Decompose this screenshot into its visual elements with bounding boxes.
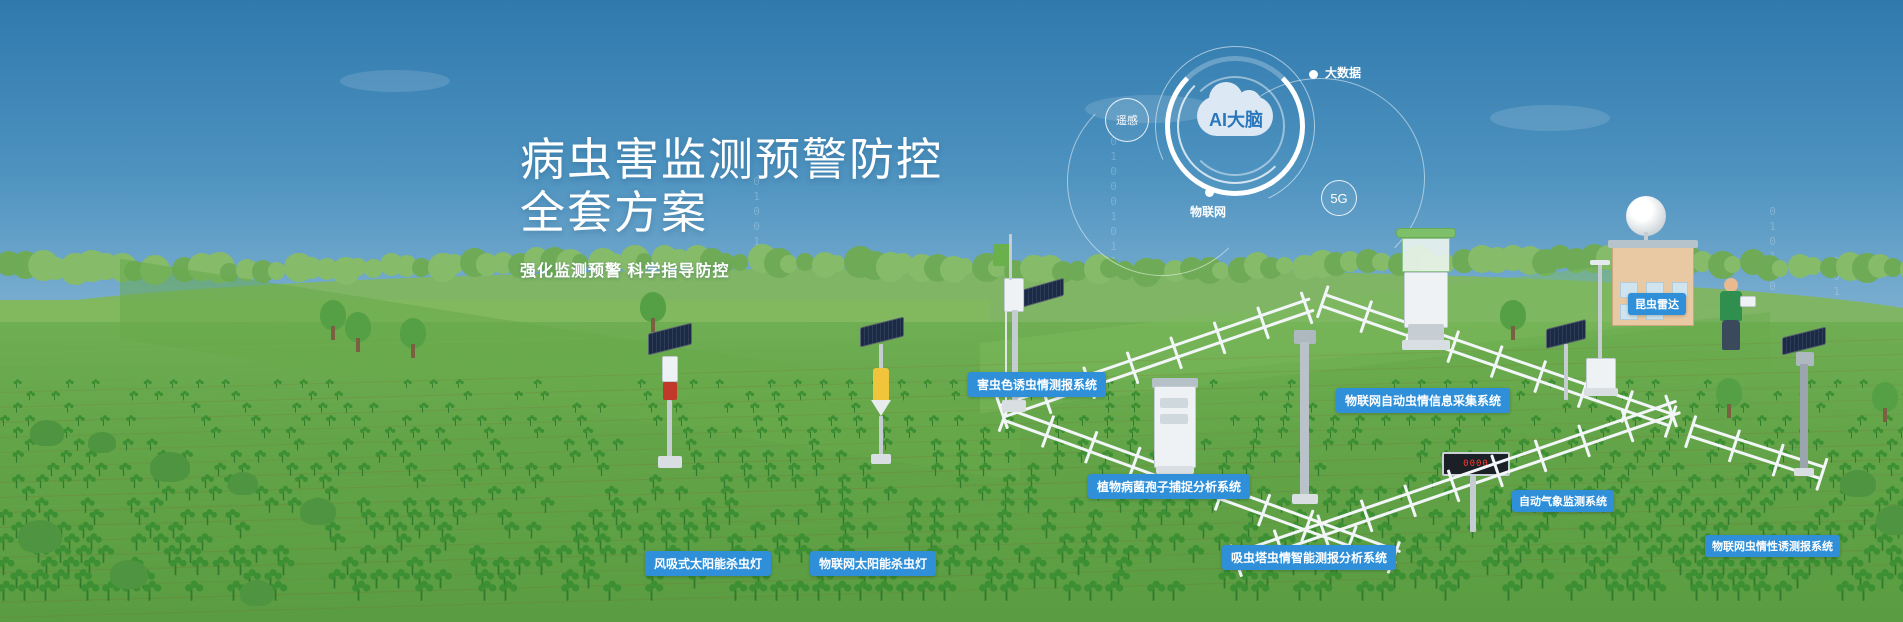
crop-plant: [242, 405, 248, 413]
crop-plant: [690, 381, 696, 388]
crop-plant: [643, 393, 649, 401]
crop-plant: [896, 584, 909, 600]
hero-title-block: 病虫害监测预警防控 全套方案 强化监测预警 科学指导防控: [520, 133, 943, 281]
roadside-bush: [228, 472, 258, 495]
collector-body: [1404, 272, 1448, 328]
page-title-line-2: 全套方案: [520, 186, 943, 239]
ai-brain-graphic: AI大脑 遥感 5G 大数据 物联网: [1085, 28, 1445, 228]
crop-plant: [309, 393, 315, 401]
crop-plant: [185, 584, 198, 600]
crop-plant: [1130, 417, 1137, 426]
tree-trunk: [1727, 404, 1731, 418]
crop-plant: [369, 405, 375, 413]
crop-plant: [1288, 381, 1294, 388]
crop-plant: [61, 453, 69, 463]
crop-plant: [222, 381, 228, 388]
crop-plant: [211, 429, 218, 438]
crop-plant: [1633, 536, 1644, 550]
crop-plant: [950, 381, 956, 388]
device-label-auto-weather-monitoring-system[interactable]: 自动气象监测系统: [1512, 490, 1614, 512]
crop-plant: [0, 512, 9, 525]
crop-plant: [1774, 429, 1781, 438]
crop-plant: [690, 453, 698, 463]
crop-plant: [1627, 584, 1640, 600]
device-label-iot-sex-lure-forecast-system[interactable]: 物联网虫情性诱测报系统: [1705, 535, 1840, 557]
crop-plant: [1000, 584, 1013, 600]
crop-plant: [812, 465, 821, 476]
crop-plant: [18, 584, 31, 600]
crop-plant: [1666, 441, 1674, 451]
crop-plant: [898, 381, 904, 388]
crop-plant: [599, 548, 610, 563]
crop-plant: [1672, 465, 1681, 476]
crop-plant: [956, 453, 964, 463]
crop-plant: [863, 500, 873, 513]
crop-plant: [1617, 477, 1626, 489]
crop-plant: [1793, 488, 1802, 500]
crop-plant: [1431, 417, 1438, 426]
crop-plant: [85, 453, 93, 463]
crop-plant: [310, 465, 319, 476]
crop-plant: [692, 465, 701, 476]
crop-plant: [1314, 465, 1323, 476]
device-base: [1002, 400, 1026, 412]
building-roof: [1608, 240, 1698, 248]
roadside-bush: [300, 498, 336, 525]
led-board-pole: [1470, 476, 1476, 532]
crop-plant: [155, 393, 161, 401]
crop-plant: [1283, 405, 1289, 413]
crop-plant: [477, 465, 486, 476]
tree: [320, 300, 346, 344]
roadside-bush: [1840, 470, 1876, 497]
crop-plant: [472, 453, 480, 463]
crop-plant: [556, 548, 567, 563]
crop-plant: [254, 453, 262, 463]
crop-plant: [59, 477, 68, 489]
tree-trunk: [411, 344, 415, 358]
crop-plant: [484, 429, 491, 438]
crop-plant: [414, 524, 425, 538]
cloud-icon: [1490, 105, 1610, 131]
crop-plant: [1156, 512, 1166, 525]
crop-plant: [1770, 488, 1779, 500]
crop-plant: [1104, 429, 1111, 438]
crop-plant: [1711, 477, 1720, 489]
device-base: [871, 454, 891, 464]
crop-plant: [1070, 500, 1080, 513]
crop-plant: [119, 465, 128, 476]
crop-plant: [1230, 584, 1243, 600]
crop-plant: [1652, 381, 1658, 388]
crop-plant: [979, 584, 992, 600]
crop-plant: [392, 572, 404, 588]
node-label-iot: 物联网: [1190, 203, 1226, 220]
crop-plant: [1501, 429, 1508, 438]
crop-plant: [1746, 512, 1756, 525]
crop-plant: [1668, 500, 1678, 513]
crop-plant: [540, 393, 546, 401]
tree: [400, 318, 426, 362]
crop-plant: [1144, 548, 1155, 563]
crop-plant: [1753, 584, 1766, 600]
crop-plant: [774, 548, 785, 563]
crop-plant: [1247, 453, 1255, 463]
crop-plant: [932, 453, 940, 463]
crop-plant: [232, 393, 238, 401]
device-label-wind-suction-solar-insect-lamp[interactable]: 风吸式太阳能杀虫灯: [645, 551, 771, 576]
tablet-icon: [1740, 296, 1756, 307]
worker-body: [1720, 291, 1742, 321]
crop-plant: [1028, 572, 1040, 588]
crop-plant: [1309, 405, 1315, 413]
crop-plant: [196, 381, 202, 388]
crop-plant: [924, 381, 930, 388]
crop-plant: [362, 512, 372, 525]
lamp-housing: [662, 356, 678, 382]
crop-plant: [1829, 500, 1839, 513]
badge-remote-sensing-label: 遥感: [1116, 112, 1138, 128]
crop-plant: [334, 465, 343, 476]
crop-plant: [1251, 584, 1264, 600]
crop-plant: [1253, 429, 1260, 438]
device-base: [1584, 388, 1618, 396]
crop-plant: [1691, 500, 1701, 513]
crop-plant: [279, 453, 287, 463]
crop-plant: [143, 584, 156, 600]
crop-plant: [534, 429, 541, 438]
device-pole: [1800, 364, 1808, 470]
crop-plant: [597, 465, 606, 476]
crop-plant: [147, 441, 155, 451]
crop-plant: [849, 393, 855, 401]
crop-plant: [1537, 548, 1548, 563]
crop-plant: [782, 429, 789, 438]
crop-plant: [1049, 572, 1061, 588]
crop-plant: [1626, 381, 1632, 388]
crop-plant: [1323, 500, 1333, 513]
crop-plant: [1278, 429, 1285, 438]
crop-plant: [225, 512, 235, 525]
crop-plant: [1293, 584, 1306, 600]
crop-plant: [1899, 584, 1903, 600]
crop-plant: [170, 381, 176, 388]
crop-plant: [1813, 441, 1821, 451]
crop-plant: [1502, 584, 1515, 600]
crop-plant: [1711, 584, 1724, 600]
crop-plant: [201, 477, 210, 489]
crop-plant: [1327, 429, 1334, 438]
crop-plant: [1834, 381, 1840, 388]
crop-plant: [430, 512, 440, 525]
crop-plant: [463, 393, 469, 401]
crop-plant: [445, 405, 451, 413]
crop-plant: [1737, 500, 1747, 513]
crop-plant: [793, 512, 803, 525]
crop-plant: [230, 453, 238, 463]
crop-plant: [1774, 584, 1787, 600]
tree-trunk: [1883, 408, 1887, 422]
crop-plant: [227, 584, 240, 600]
crop-plant: [954, 417, 961, 426]
hill-bush: [1772, 260, 1788, 276]
crop-plant: [977, 488, 986, 500]
crop-plant: [1481, 560, 1493, 575]
crop-plant: [820, 381, 826, 388]
crop-plant: [25, 417, 32, 426]
crop-plant: [1645, 500, 1655, 513]
roadside-bush: [110, 560, 148, 589]
crop-plant: [130, 477, 139, 489]
worker-head: [1724, 278, 1738, 292]
crop-plant: [351, 417, 358, 426]
cabinet-vent: [1160, 398, 1188, 408]
crop-plant: [214, 465, 223, 476]
node-label-bigdata: 大数据: [1325, 64, 1361, 81]
crop-plant: [1690, 584, 1703, 600]
crop-plant: [360, 548, 371, 563]
roadside-bush: [240, 580, 274, 606]
crop-plant: [549, 465, 558, 476]
crop-plant: [278, 488, 287, 500]
crop-plant: [1836, 584, 1849, 600]
crop-plant: [1377, 584, 1390, 600]
crop-plant: [1410, 572, 1422, 588]
crop-plant: [319, 477, 328, 489]
crop-plant: [407, 512, 417, 525]
crop-plant: [1355, 417, 1362, 426]
device-pole: [667, 400, 672, 458]
crop-plant: [1168, 584, 1181, 600]
crop-plant: [1104, 417, 1111, 426]
crop-plant: [541, 500, 551, 513]
roadside-bush: [150, 452, 190, 482]
crop-plant: [1372, 441, 1380, 451]
crop-plant: [360, 429, 367, 438]
tree: [1872, 382, 1898, 426]
crop-plant: [811, 453, 819, 463]
crop-plant: [1735, 477, 1744, 489]
crop-plant: [744, 477, 753, 489]
crop-plant: [1222, 453, 1230, 463]
crop-plant: [577, 417, 584, 426]
crop-plant: [12, 477, 21, 489]
crop-plant: [770, 584, 783, 600]
crop-plant: [1860, 381, 1866, 388]
crop-plant: [746, 393, 752, 401]
crop-plant: [938, 584, 951, 600]
crop-plant: [295, 477, 304, 489]
crop-plant: [274, 381, 280, 388]
crop-plant: [180, 393, 186, 401]
crop-plant: [1439, 584, 1452, 600]
crop-plant: [612, 441, 620, 451]
crop-plant: [1688, 477, 1697, 489]
crop-plant: [1648, 465, 1657, 476]
crop-plant: [862, 524, 873, 538]
crop-plant: [828, 417, 835, 426]
crop-plant: [851, 405, 857, 413]
crop-plant: [400, 453, 408, 463]
crop-plant: [478, 584, 491, 600]
crop-plant: [327, 453, 335, 463]
roadside-bush: [1876, 505, 1903, 535]
crop-plant: [1490, 524, 1501, 538]
device-label-suction-tower-forecast-system[interactable]: 吸虫塔虫情智能测报分析系统: [1222, 545, 1396, 570]
crop-plant: [504, 524, 515, 538]
badge-5g[interactable]: 5G: [1321, 180, 1357, 216]
crop-plant: [738, 453, 746, 463]
crop-plant: [375, 453, 383, 463]
tower-mast: [1300, 342, 1309, 498]
crop-plant: [1827, 453, 1835, 463]
crop-plant: [791, 477, 800, 489]
crop-plant: [1658, 453, 1666, 463]
crop-plant: [1774, 393, 1780, 401]
crop-plant: [52, 393, 58, 401]
crop-plant: [1131, 393, 1137, 401]
crop-plant: [767, 477, 776, 489]
crop-plant: [129, 393, 135, 401]
crop-plant: [1481, 417, 1488, 426]
crop-plant: [1188, 548, 1199, 563]
device-pole: [1009, 234, 1012, 280]
controller-box: [1004, 278, 1024, 312]
crop-plant: [856, 429, 863, 438]
crop-plant: [956, 477, 965, 489]
crop-plant: [12, 453, 20, 463]
crop-plant: [597, 405, 603, 413]
crop-plant: [251, 548, 262, 563]
device-label-iot-auto-pest-info-collection[interactable]: 物联网自动虫情信息采集系统: [1336, 388, 1510, 413]
crop-plant: [980, 429, 987, 438]
crop-plant: [1655, 512, 1665, 525]
crop-plant: [771, 393, 777, 401]
crop-plant: [750, 584, 763, 600]
crop-plant: [1825, 393, 1831, 401]
crop-plant: [1381, 417, 1388, 426]
crop-plant: [531, 477, 540, 489]
crop-plant: [714, 453, 722, 463]
crop-plant: [64, 405, 70, 413]
crop-plant: [83, 477, 92, 489]
crop-plant: [616, 524, 627, 538]
crop-plant: [1886, 441, 1894, 451]
crop-plant: [434, 572, 446, 588]
crop-plant: [605, 488, 614, 500]
crop-plant: [770, 512, 780, 525]
badge-5g-label: 5G: [1330, 191, 1347, 206]
crop-plant: [648, 405, 654, 413]
crop-plant: [502, 417, 509, 426]
crop-plant: [778, 417, 785, 426]
tree-trunk: [1511, 326, 1515, 340]
crop-plant: [425, 548, 436, 563]
crop-plant: [1559, 548, 1570, 563]
crop-plant: [326, 381, 332, 388]
crop-plant: [452, 417, 459, 426]
crop-plant: [561, 584, 574, 600]
crop-plant: [420, 405, 426, 413]
instrument-shelter: [1586, 358, 1616, 390]
crop-plant: [288, 500, 298, 513]
crop-plant: [970, 536, 981, 550]
crop-plant: [472, 500, 482, 513]
crop-plant: [343, 441, 351, 451]
crop-plant: [1434, 536, 1445, 550]
crop-plant: [203, 512, 213, 525]
crop-plant: [261, 429, 268, 438]
crop-plant: [1690, 405, 1696, 413]
crop-plant: [26, 393, 32, 401]
device-label-insect-radar[interactable]: 昆虫雷达: [1628, 293, 1686, 315]
badge-remote-sensing[interactable]: 遥感: [1105, 98, 1149, 142]
device-label-color-lure-pest-forecast-system[interactable]: 害虫色诱虫情测报系统: [968, 372, 1106, 397]
device-label-iot-solar-insect-lamp[interactable]: 物联网太阳能杀虫灯: [810, 551, 936, 576]
crop-plant: [14, 381, 20, 388]
crop-plant: [501, 465, 510, 476]
crop-plant: [1494, 441, 1502, 451]
tree-trunk: [331, 326, 335, 340]
crop-plant: [917, 584, 930, 600]
crop-plant: [563, 441, 571, 451]
crop-plant: [496, 453, 504, 463]
crop-plant: [1829, 477, 1838, 489]
crop-plant: [651, 488, 660, 500]
crop-plant: [1697, 393, 1703, 401]
hero-banner: 010010101101100 0100010110101 0101001011…: [0, 0, 1903, 622]
crop-plant: [153, 536, 164, 550]
crop-plant: [352, 584, 365, 600]
crop-plant: [904, 536, 915, 550]
device-label-spore-capture-analysis-system[interactable]: 植物病菌孢子捕捉分析系统: [1088, 474, 1250, 499]
crop-plant: [638, 381, 644, 388]
crop-plant: [1825, 560, 1837, 575]
crop-plant: [1876, 572, 1888, 588]
crop-plant: [1456, 417, 1463, 426]
crop-plant: [434, 429, 441, 438]
node-dot-icon: [1309, 70, 1318, 79]
collector-cage: [1402, 238, 1450, 272]
crop-plant: [430, 381, 436, 388]
crop-plant: [1116, 500, 1126, 513]
crop-plant: [569, 453, 577, 463]
crop-plant: [682, 429, 689, 438]
crop-plant: [1610, 453, 1618, 463]
crop-plant: [1876, 453, 1884, 463]
crop-plant: [477, 417, 484, 426]
tree: [1500, 300, 1526, 344]
crop-plant: [1131, 405, 1137, 413]
crop-plant: [854, 584, 867, 600]
crop-plant: [593, 453, 601, 463]
crop-plant: [1570, 477, 1579, 489]
crop-plant: [102, 584, 115, 600]
crop-plant: [725, 512, 735, 525]
crop-plant: [706, 524, 717, 538]
device-base: [1292, 494, 1318, 504]
crop-plant: [1817, 405, 1823, 413]
crop-plant: [294, 441, 302, 451]
crop-plant: [1416, 453, 1424, 463]
crop-plant: [24, 441, 32, 451]
crop-plant: [639, 536, 650, 550]
crop-plant: [1198, 524, 1209, 538]
worker-legs: [1722, 320, 1740, 350]
crop-plant: [1808, 381, 1814, 388]
crop-plant: [1634, 453, 1642, 463]
roadside-bush: [30, 420, 64, 446]
